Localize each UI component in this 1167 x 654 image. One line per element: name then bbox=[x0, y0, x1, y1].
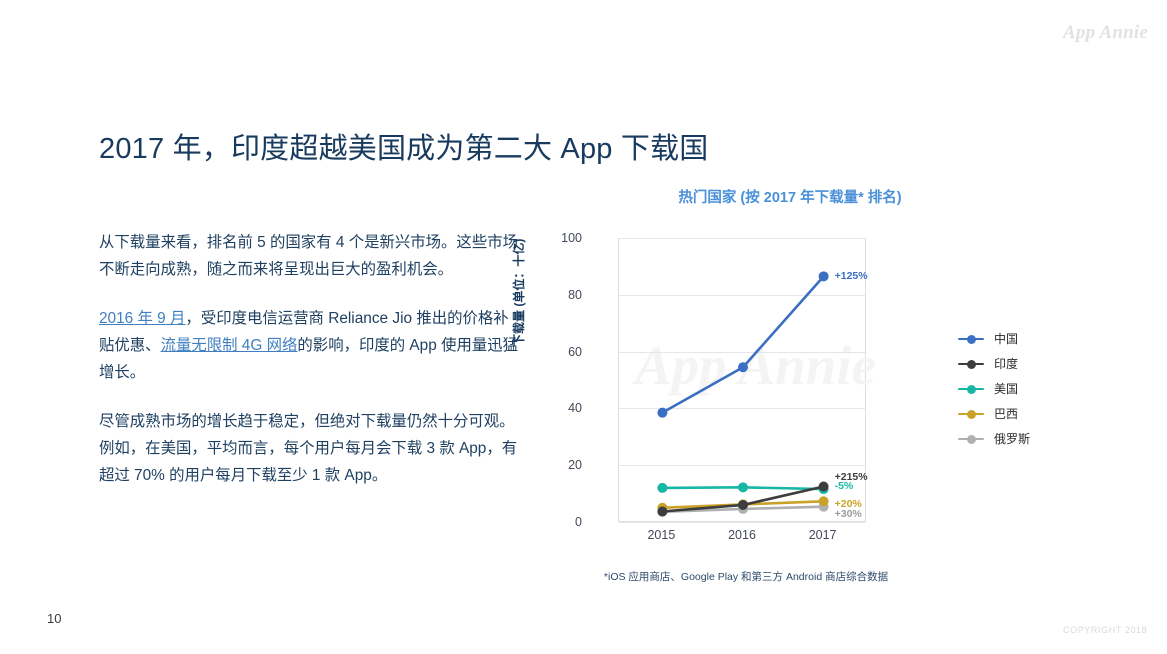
legend-marker-icon bbox=[958, 359, 984, 369]
legend-item-中国[interactable]: 中国 bbox=[958, 326, 1078, 351]
growth-label-俄罗斯: +30% bbox=[835, 508, 862, 520]
y-tick-label: 40 bbox=[536, 401, 582, 415]
link-unlimited-4g[interactable]: 流量无限制 4G 网络 bbox=[161, 337, 298, 354]
legend-label: 俄罗斯 bbox=[994, 430, 1030, 447]
legend-item-俄罗斯[interactable]: 俄罗斯 bbox=[958, 426, 1078, 451]
y-tick-label: 20 bbox=[536, 458, 582, 472]
body-copy: 从下载量来看，排名前 5 的国家有 4 个是新兴市场。这些市场不断走向成熟，随之… bbox=[99, 229, 524, 489]
legend-item-巴西[interactable]: 巴西 bbox=[958, 401, 1078, 426]
y-tick-label: 100 bbox=[536, 231, 582, 245]
y-tick-label: 0 bbox=[536, 515, 582, 529]
slide-canvas: App Annie 2017 年，印度超越美国成为第二大 App 下载国 从下载… bbox=[0, 0, 1167, 654]
data-point-巴西 bbox=[819, 496, 829, 506]
chart-title: 热门国家 (按 2017 年下载量* 排名) bbox=[620, 186, 960, 207]
data-point-中国 bbox=[657, 408, 667, 418]
data-point-中国 bbox=[738, 362, 748, 372]
legend-marker-icon bbox=[958, 409, 984, 419]
legend-item-印度[interactable]: 印度 bbox=[958, 351, 1078, 376]
legend-label: 美国 bbox=[994, 380, 1018, 397]
data-point-美国 bbox=[657, 483, 667, 493]
data-point-美国 bbox=[738, 482, 748, 492]
y-tick-label: 80 bbox=[536, 288, 582, 302]
data-point-中国 bbox=[819, 271, 829, 281]
x-tick-label: 2015 bbox=[647, 528, 675, 542]
app-annie-logo: App Annie bbox=[1063, 22, 1148, 44]
legend-marker-icon bbox=[958, 384, 984, 394]
legend-label: 中国 bbox=[994, 330, 1018, 347]
chart-legend: 中国印度美国巴西俄罗斯 bbox=[958, 326, 1078, 451]
copyright-notice: COPYRIGHT 2018 bbox=[1063, 625, 1147, 635]
y-tick-label: 60 bbox=[536, 345, 582, 359]
x-tick-label: 2017 bbox=[809, 528, 837, 542]
paragraph-1: 从下载量来看，排名前 5 的国家有 4 个是新兴市场。这些市场不断走向成熟，随之… bbox=[99, 229, 524, 283]
page-title: 2017 年，印度超越美国成为第二大 App 下载国 bbox=[99, 125, 999, 167]
x-tick-label: 2016 bbox=[728, 528, 756, 542]
growth-label-美国: -5% bbox=[835, 480, 854, 492]
page-number: 10 bbox=[47, 611, 61, 626]
gridline bbox=[619, 522, 865, 523]
series-canvas bbox=[619, 238, 867, 522]
y-axis-label: 下载量 (单位：十亿) bbox=[510, 239, 527, 346]
data-point-印度 bbox=[819, 482, 829, 492]
data-point-印度 bbox=[738, 500, 748, 510]
legend-label: 印度 bbox=[994, 355, 1018, 372]
link-2016-september[interactable]: 2016 年 9 月 bbox=[99, 310, 185, 327]
x-axis-ticks: 201520162017 bbox=[618, 528, 866, 548]
growth-label-中国: +125% bbox=[835, 270, 868, 282]
y-axis-ticks: 020406080100 bbox=[536, 228, 582, 518]
legend-label: 巴西 bbox=[994, 405, 1018, 422]
legend-item-美国[interactable]: 美国 bbox=[958, 376, 1078, 401]
chart-footnote: *iOS 应用商店、Google Play 和第三方 Android 商店综合数… bbox=[536, 569, 956, 584]
legend-marker-icon bbox=[958, 434, 984, 444]
data-point-印度 bbox=[657, 506, 667, 516]
paragraph-2: 2016 年 9 月，受印度电信运营商 Reliance Jio 推出的价格补贴… bbox=[99, 305, 524, 386]
legend-marker-icon bbox=[958, 334, 984, 344]
plot-area: App Annie bbox=[618, 238, 866, 522]
paragraph-3: 尽管成熟市场的增长趋于稳定，但绝对下载量仍然十分可观。例如，在美国，平均而言，每… bbox=[99, 408, 524, 489]
line-chart: 下载量 (单位：十亿) 020406080100 App Annie 20152… bbox=[536, 228, 956, 528]
series-line-中国 bbox=[662, 276, 823, 412]
